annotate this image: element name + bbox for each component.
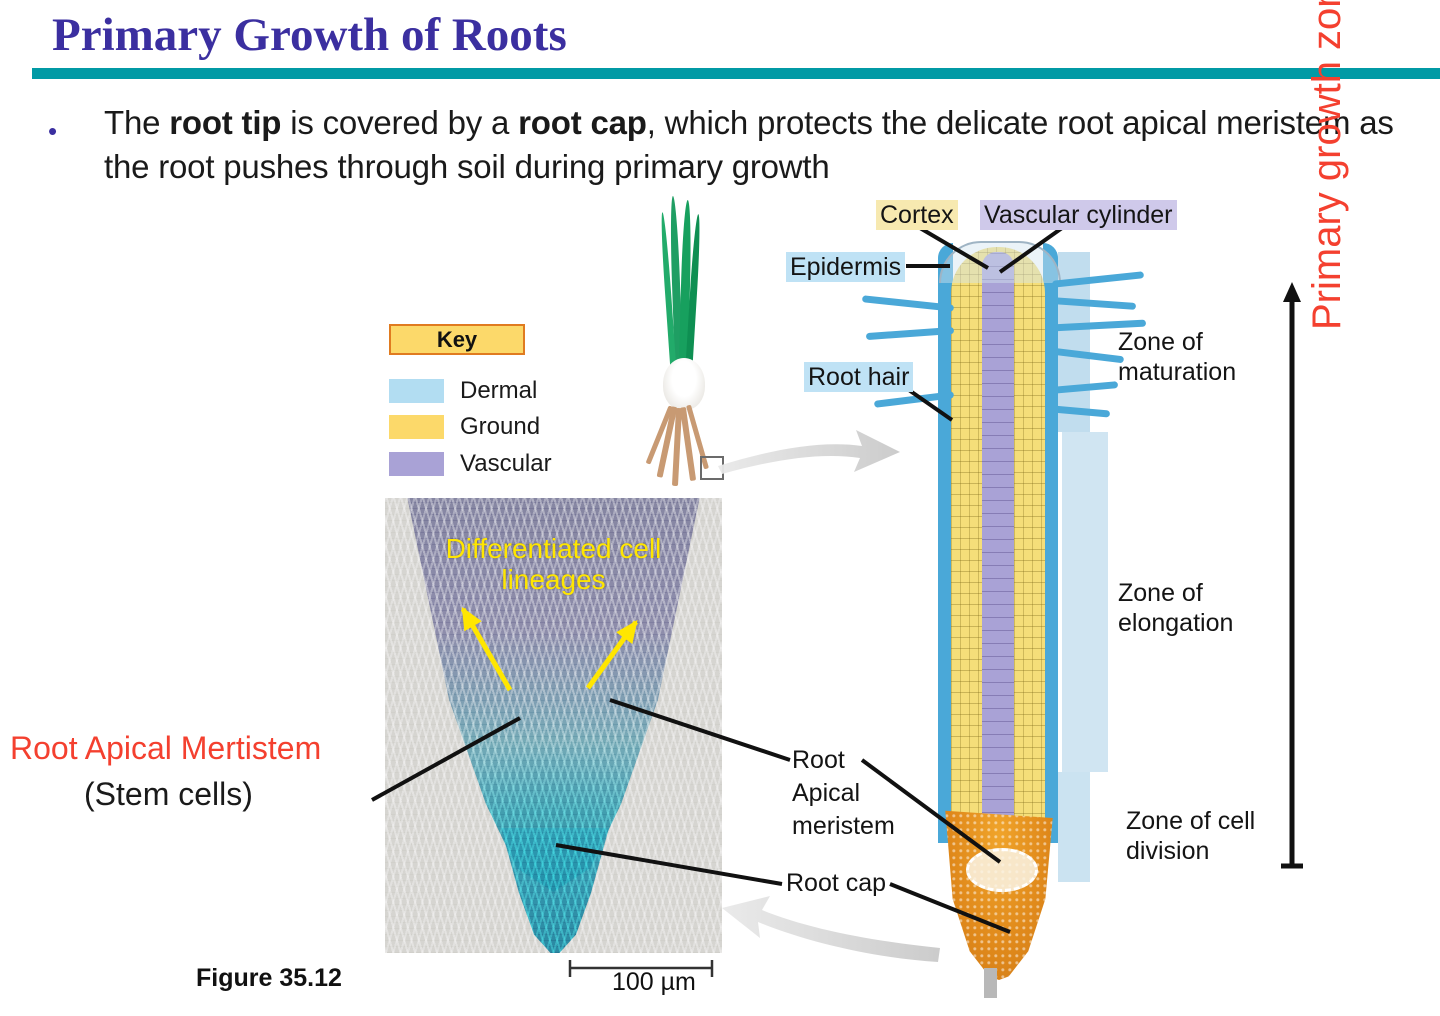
root-tip-micrograph: Differentiated cell lineages	[385, 498, 722, 953]
zone-band-elongation	[1062, 432, 1108, 772]
zone-cell-division-line-2: division	[1126, 836, 1255, 866]
label-root-apical-meristem-line-3: meristem	[792, 812, 895, 840]
seedling-bulb	[663, 358, 705, 410]
label-root-apical-meristem-line-1: Root	[792, 746, 845, 774]
root-vascular-cylinder-tissue	[982, 252, 1014, 852]
key-swatch-dermal	[389, 379, 444, 403]
slide-root: Primary Growth of Roots • The root tip i…	[0, 0, 1440, 1016]
body-paragraph: The root tip is covered by a root cap, w…	[104, 101, 1434, 189]
zone-label-maturation: Zone of maturation	[1118, 327, 1236, 387]
root-cap-tip	[984, 968, 997, 998]
key-item-dermal: Dermal	[389, 377, 537, 405]
root-apical-meristem-region	[966, 848, 1038, 892]
zone-cell-division-line-1: Zone of cell	[1126, 806, 1255, 836]
stem-cells-callout: (Stem cells)	[84, 776, 253, 813]
zoom-arrow-right	[718, 430, 900, 474]
zone-elongation-line-2: elongation	[1118, 608, 1233, 638]
primary-growth-zones-bracket	[1281, 282, 1303, 868]
zone-maturation-line-1: Zone of	[1118, 327, 1236, 357]
title-divider	[32, 68, 1440, 79]
body-text-part-3: , which protects the delicate root	[647, 104, 1113, 141]
label-vascular-cylinder: Vascular cylinder	[980, 200, 1177, 230]
page-title: Primary Growth of Roots	[52, 8, 567, 62]
key-label-ground: Ground	[460, 413, 540, 441]
zone-elongation-line-1: Zone of	[1118, 578, 1233, 608]
zone-maturation-line-2: maturation	[1118, 357, 1236, 387]
zoom-region-indicator	[700, 456, 724, 480]
figure-caption: Figure 35.12	[196, 964, 342, 993]
body-text-part-1: The	[104, 104, 169, 141]
annotation-line-1: Differentiated cell	[446, 533, 662, 564]
micrograph-root-cap-tissue	[480, 828, 630, 953]
key-label-vascular: Vascular	[460, 450, 552, 478]
key-swatch-vascular	[389, 452, 444, 476]
root-apical-meristem-callout: Root Apical Mertistem	[10, 730, 321, 767]
label-root-hair: Root hair	[804, 362, 913, 392]
body-text-part-2: is covered by a	[281, 104, 518, 141]
annotation-line-2: lineages	[501, 564, 605, 595]
key-item-ground: Ground	[389, 413, 540, 441]
key-label-dermal: Dermal	[460, 377, 537, 405]
key-heading-label: Key	[391, 326, 523, 353]
bullet-marker: •	[48, 118, 57, 144]
key-heading-box: Key	[389, 324, 525, 355]
label-epidermis: Epidermis	[786, 252, 905, 282]
label-cortex: Cortex	[876, 200, 958, 230]
label-root-cap: Root cap	[786, 869, 886, 897]
micrograph-annotation: Differentiated cell lineages	[385, 533, 722, 596]
root-epidermis-right	[1043, 243, 1058, 843]
primary-growth-zones-label: Primary growth zones	[1305, 0, 1350, 330]
label-root-apical-meristem-line-2: Apical	[792, 779, 860, 807]
zone-label-elongation: Zone of elongation	[1118, 578, 1233, 638]
zone-label-cell-division: Zone of cell division	[1126, 806, 1255, 866]
term-root-tip: root tip	[169, 104, 281, 141]
term-root-cap: root cap	[518, 104, 647, 141]
key-item-vascular: Vascular	[389, 450, 552, 478]
key-swatch-ground	[389, 415, 444, 439]
zone-band-cell-division	[1058, 772, 1090, 882]
scale-bar-label: 100 µm	[612, 968, 696, 997]
zoom-arrow-left	[722, 896, 940, 962]
